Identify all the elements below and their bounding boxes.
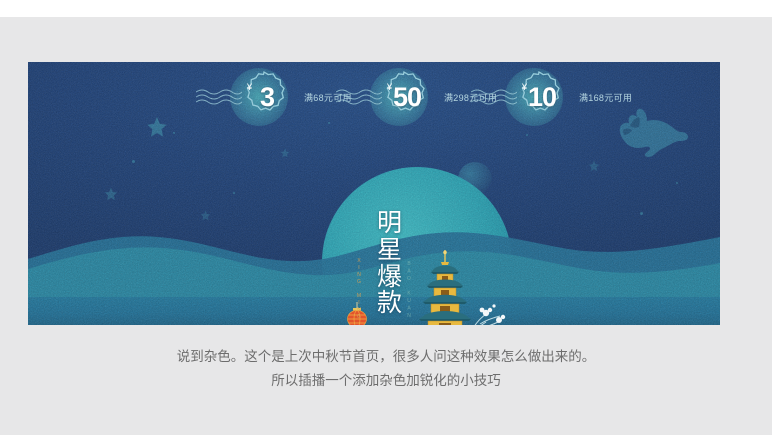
page-root: 明 星 爆 款 XING MING BAO KUAN bbox=[0, 0, 772, 435]
coupon-badge: ¥ 50 bbox=[376, 69, 432, 125]
coupon-item[interactable]: ¥ 10 满168元可用 bbox=[471, 66, 632, 128]
banner-title: 明 星 爆 款 bbox=[358, 210, 422, 317]
title-char-4: 款 bbox=[358, 290, 422, 317]
title-pinyin-right: BAO KUAN bbox=[400, 261, 412, 320]
coupon-row: ¥ 3 满68元可用 ¥ bbox=[28, 62, 720, 132]
coupon-amount: 50 bbox=[387, 84, 421, 111]
title-char-2: 星 bbox=[358, 237, 422, 264]
coupon-badge: ¥ 3 bbox=[236, 69, 292, 125]
coupon-badge: ¥ 10 bbox=[511, 69, 567, 125]
coupon-amount: 3 bbox=[254, 84, 274, 111]
caption-line-2: 所以插播一个添加杂色加锐化的小技巧 bbox=[0, 369, 772, 393]
star-dot bbox=[132, 160, 135, 163]
star-dot bbox=[526, 134, 528, 136]
coupon-amount: 10 bbox=[522, 84, 556, 111]
star-dot bbox=[233, 192, 235, 194]
star-dot bbox=[676, 182, 678, 184]
midautumn-promo-banner[interactable]: 明 星 爆 款 XING MING BAO KUAN bbox=[28, 62, 720, 325]
cherry-blossom-icon bbox=[452, 300, 510, 325]
star-icon bbox=[588, 160, 600, 172]
star-dot bbox=[173, 132, 175, 134]
title-char-3: 爆 bbox=[358, 264, 422, 291]
caption-block: 说到杂色。这个是上次中秋节首页，很多人问这种效果怎么做出来的。 所以插播一个添加… bbox=[0, 345, 772, 393]
title-pinyin-left: XING MING bbox=[350, 258, 362, 321]
page-top-strip bbox=[0, 0, 772, 17]
star-icon bbox=[104, 187, 118, 201]
star-icon bbox=[280, 148, 290, 158]
caption-line-1: 说到杂色。这个是上次中秋节首页，很多人问这种效果怎么做出来的。 bbox=[0, 345, 772, 369]
coupon-condition: 满168元可用 bbox=[579, 91, 632, 104]
currency-symbol: ¥ bbox=[247, 83, 252, 92]
title-char-1: 明 bbox=[358, 210, 422, 237]
coupon-item[interactable]: ¥ 3 满68元可用 bbox=[196, 66, 352, 128]
